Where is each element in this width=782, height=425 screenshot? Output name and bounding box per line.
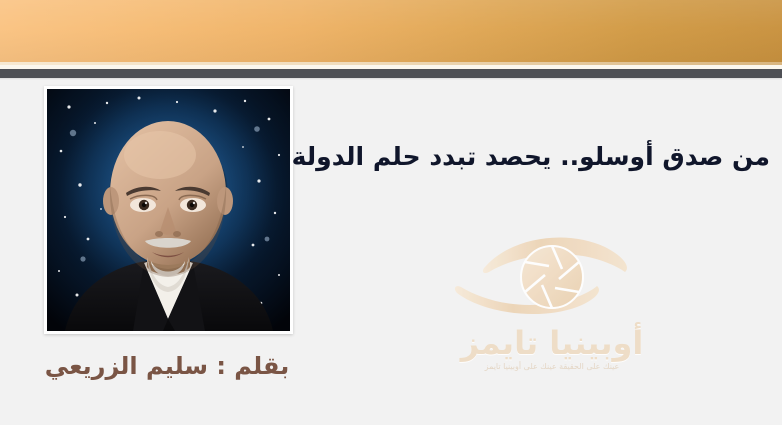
- logo-wordmark: أوبينيا تايمز: [427, 327, 677, 361]
- eye-aperture-icon: [427, 225, 677, 325]
- article-content: من صدق أوسلو.. يحصد تبدد حلم الدولة بقلم…: [0, 80, 782, 425]
- article-byline: بقلم : سليم الزريعي: [22, 352, 312, 380]
- logo-tagline: عينك على الحقيقة عينك على أوبينيا تايمز: [427, 362, 677, 371]
- article-header-page: من صدق أوسلو.. يحصد تبدد حلم الدولة بقلم…: [0, 0, 782, 425]
- author-portrait-frame: [44, 86, 293, 334]
- top-banner: [0, 0, 782, 63]
- article-headline: من صدق أوسلو.. يحصد تبدد حلم الدولة: [300, 140, 770, 174]
- author-portrait-photo: [47, 89, 290, 331]
- dark-separator-bar: [0, 69, 782, 78]
- camera-aperture: [521, 246, 583, 308]
- site-logo-watermark: أوبينيا تايمز عينك على الحقيقة عينك على …: [427, 225, 677, 410]
- portrait-illustration: [47, 89, 290, 331]
- banner-sheen: [0, 0, 782, 63]
